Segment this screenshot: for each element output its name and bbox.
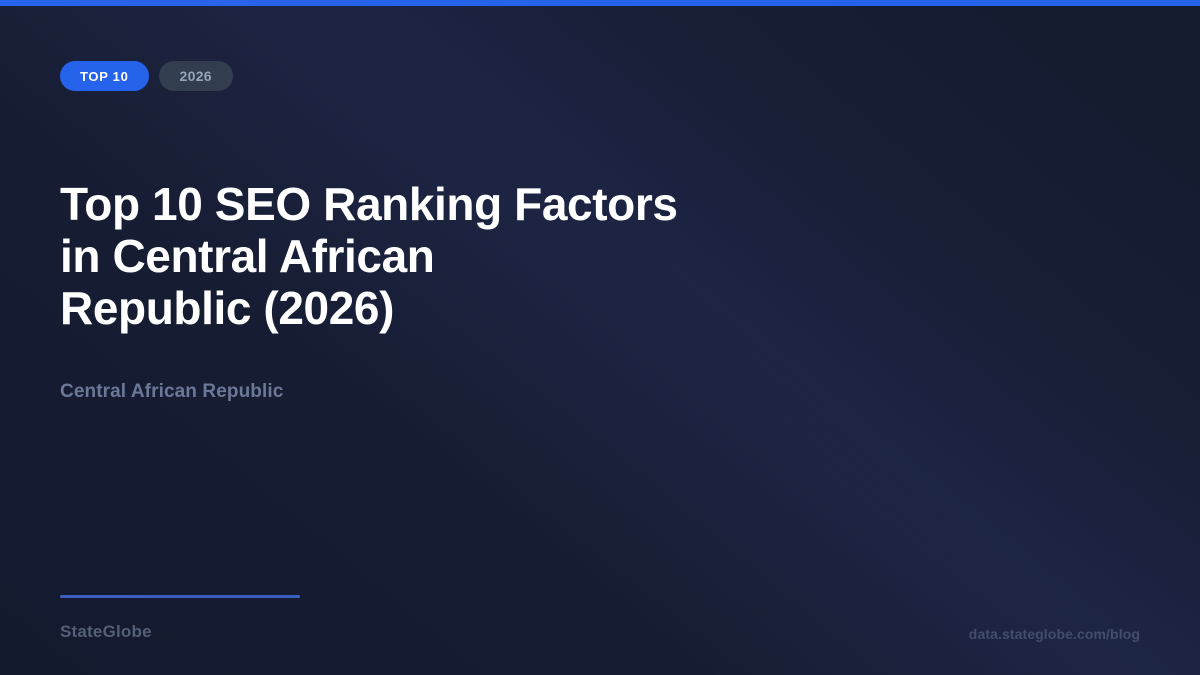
title-slide: TOP 10 2026 Top 10 SEO Ranking Factors i… xyxy=(0,0,1200,675)
badge-rank[interactable]: TOP 10 xyxy=(60,61,149,91)
badge-year[interactable]: 2026 xyxy=(159,61,233,91)
footer-brand: StateGlobe xyxy=(60,622,152,642)
badge-group: TOP 10 2026 xyxy=(60,61,233,91)
footer-divider xyxy=(60,595,300,598)
page-title-line-2: in Central African xyxy=(60,230,760,282)
page-title-line-3: Republic (2026) xyxy=(60,282,760,334)
top-accent-bar xyxy=(0,0,1200,6)
footer-url: data.stateglobe.com/blog xyxy=(969,626,1140,642)
page-title: Top 10 SEO Ranking Factors in Central Af… xyxy=(60,178,760,334)
page-subtitle: Central African Republic xyxy=(60,381,283,403)
page-title-line-1: Top 10 SEO Ranking Factors xyxy=(60,178,760,230)
background-sheen xyxy=(0,0,1200,675)
